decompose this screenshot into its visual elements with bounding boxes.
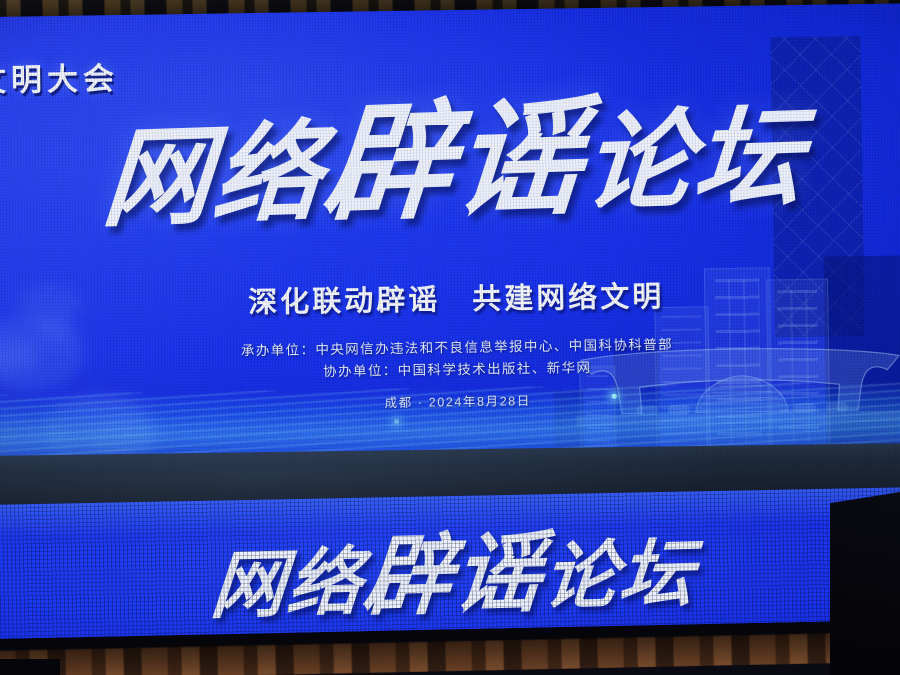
page-title: 网络辟谣论坛	[0, 73, 900, 250]
title-part-a: 网络	[99, 109, 328, 242]
right-dark-edge	[830, 492, 900, 675]
main-led-screen: 文明大会 网络辟谣论坛 深化联动辟谣 共建网络文明 承办单位：中央网信办违法和不…	[0, 3, 900, 469]
top-left-banner-text: 文明大会	[0, 53, 119, 100]
title-part-b: 辟谣	[319, 82, 590, 241]
title-part-c: 论坛	[579, 94, 808, 227]
left-dark-edge	[0, 659, 60, 675]
conference-stage-photo: 文明大会 网络辟谣论坛 深化联动辟谣 共建网络文明 承办单位：中央网信办违法和不…	[0, 0, 900, 675]
